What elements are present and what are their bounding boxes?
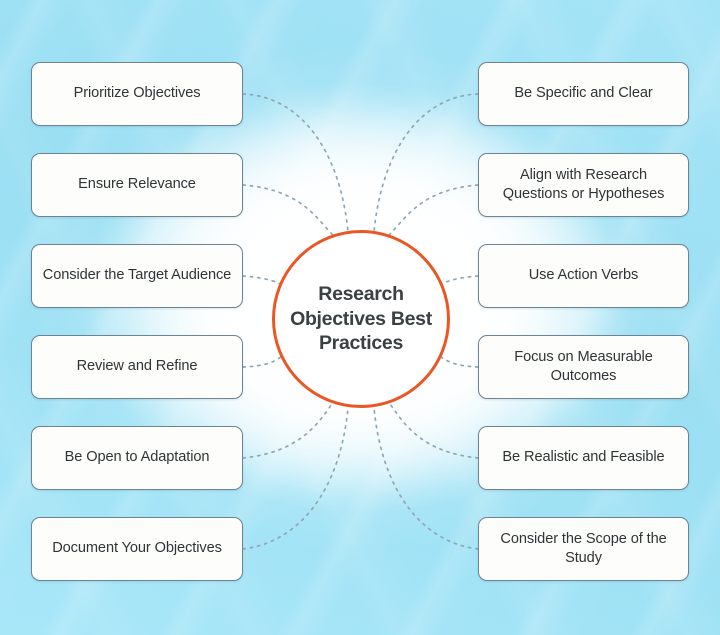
node-label: Align with Research Questions or Hypothe… xyxy=(487,166,680,205)
node-ensure-relevance[interactable]: Ensure Relevance xyxy=(31,153,243,217)
node-prioritize-objectives[interactable]: Prioritize Objectives xyxy=(31,62,243,126)
connector-right-6 xyxy=(374,408,478,549)
node-consider-scope-of-study[interactable]: Consider the Scope of the Study xyxy=(478,517,689,581)
node-focus-on-measurable-outcomes[interactable]: Focus on Measurable Outcomes xyxy=(478,335,689,399)
node-be-realistic-and-feasible[interactable]: Be Realistic and Feasible xyxy=(478,426,689,490)
connector-left-5 xyxy=(243,401,334,458)
node-be-specific-and-clear[interactable]: Be Specific and Clear xyxy=(478,62,689,126)
node-label: Be Open to Adaptation xyxy=(65,448,210,467)
node-label: Document Your Objectives xyxy=(52,539,222,558)
node-label: Consider the Scope of the Study xyxy=(487,530,680,569)
node-use-action-verbs[interactable]: Use Action Verbs xyxy=(478,244,689,308)
mindmap-canvas: Prioritize Objectives Ensure Relevance C… xyxy=(0,0,720,635)
node-label: Be Specific and Clear xyxy=(514,84,652,103)
connector-right-1 xyxy=(374,94,478,232)
node-label: Use Action Verbs xyxy=(529,266,639,285)
connector-right-5 xyxy=(388,401,478,458)
node-label: Be Realistic and Feasible xyxy=(502,448,664,467)
connector-left-6 xyxy=(243,408,348,549)
node-label: Focus on Measurable Outcomes xyxy=(487,348,680,387)
node-review-and-refine[interactable]: Review and Refine xyxy=(31,335,243,399)
node-label: Prioritize Objectives xyxy=(74,84,201,103)
connector-left-2 xyxy=(243,185,336,238)
center-node-label: Research Objectives Best Practices xyxy=(281,282,441,357)
node-document-your-objectives[interactable]: Document Your Objectives xyxy=(31,517,243,581)
node-label: Review and Refine xyxy=(77,357,198,376)
node-be-open-to-adaptation[interactable]: Be Open to Adaptation xyxy=(31,426,243,490)
node-align-with-research-questions[interactable]: Align with Research Questions or Hypothe… xyxy=(478,153,689,217)
node-label: Ensure Relevance xyxy=(78,175,196,194)
connector-left-1 xyxy=(243,94,348,232)
node-consider-target-audience[interactable]: Consider the Target Audience xyxy=(31,244,243,308)
connector-right-2 xyxy=(386,185,478,238)
center-node[interactable]: Research Objectives Best Practices xyxy=(272,230,450,408)
node-label: Consider the Target Audience xyxy=(43,266,231,285)
